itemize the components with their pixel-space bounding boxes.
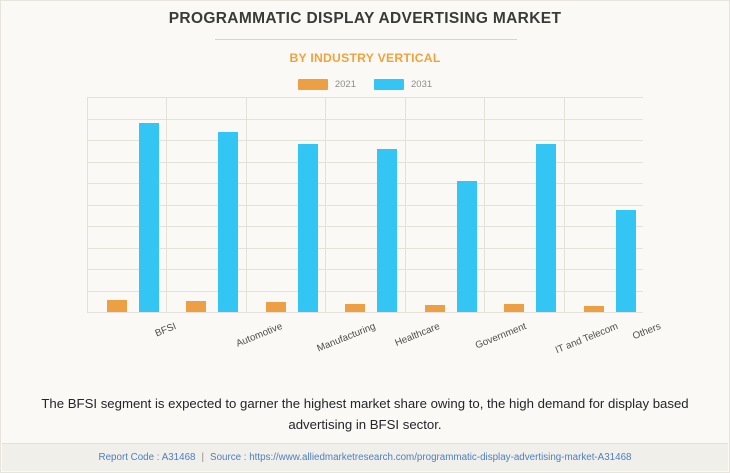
plot-area [87, 97, 643, 312]
bar-group [166, 97, 245, 312]
legend-item-2031[interactable]: 2031 [374, 79, 432, 90]
source-link[interactable]: Source : https://www.alliedmarketresearc… [210, 452, 631, 463]
bar-group [405, 97, 484, 312]
bar-2021[interactable] [504, 304, 524, 312]
legend-swatch-2031 [374, 79, 404, 90]
bar-2021[interactable] [345, 304, 365, 312]
bar-2031[interactable] [218, 132, 238, 312]
legend-label: 2021 [335, 79, 356, 90]
bar-2031[interactable] [457, 181, 477, 312]
bar-group [325, 97, 404, 312]
bar-2021[interactable] [186, 301, 206, 312]
bar-2031[interactable] [616, 210, 636, 312]
bar-2031[interactable] [377, 149, 397, 312]
bar-2021[interactable] [266, 302, 286, 312]
bar-2031[interactable] [536, 144, 556, 312]
title-divider [215, 39, 517, 40]
x-axis-label: Manufacturing [316, 321, 378, 354]
bar-2031[interactable] [139, 123, 159, 312]
legend-label: 2031 [411, 79, 432, 90]
bar-2021[interactable] [107, 300, 127, 312]
x-axis-label: BFSI [154, 321, 178, 339]
bar-2031[interactable] [298, 144, 318, 312]
x-axis-label: Automotive [235, 321, 285, 350]
legend-item-2021[interactable]: 2021 [298, 79, 356, 90]
x-axis-labels: BFSIAutomotiveManufacturingHealthcareGov… [87, 313, 643, 375]
chart-legend: 20212031 [1, 79, 729, 90]
bar-group [564, 97, 643, 312]
x-axis-label: IT and Telecom [554, 321, 620, 356]
chart-card: PROGRAMMATIC DISPLAY ADVERTISING MARKET … [0, 0, 730, 473]
chart-subtitle: BY INDUSTRY VERTICAL [1, 51, 729, 65]
bar-2021[interactable] [425, 305, 445, 312]
chart-caption: The BFSI segment is expected to garner t… [13, 393, 717, 435]
bar-group [484, 97, 563, 312]
source-separator: | [201, 452, 204, 463]
x-axis-label: Healthcare [394, 321, 442, 349]
source-bar: Report Code : A31468 | Source : https://… [2, 443, 728, 471]
bar-group [87, 97, 166, 312]
page-title: PROGRAMMATIC DISPLAY ADVERTISING MARKET [1, 10, 729, 28]
legend-swatch-2021 [298, 79, 328, 90]
bar-group [246, 97, 325, 312]
x-axis-label: Others [631, 321, 662, 342]
x-axis-label: Government [474, 321, 528, 351]
report-code: Report Code : A31468 [99, 452, 196, 463]
bar-2021[interactable] [584, 306, 604, 312]
